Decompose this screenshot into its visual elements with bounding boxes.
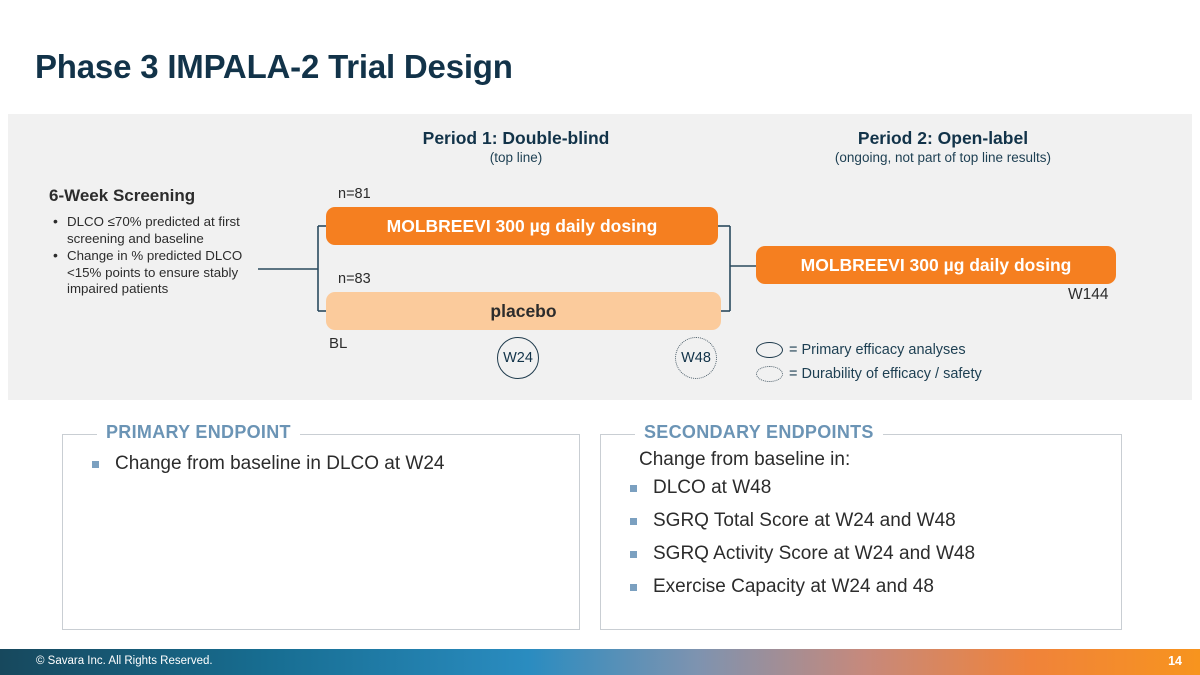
period-2-subtitle: (ongoing, not part of top line results) — [768, 150, 1118, 165]
baseline-label: BL — [329, 335, 347, 352]
list-item: DLCO ≤70% predicted at first screening a… — [50, 214, 245, 247]
primary-endpoint-heading: PRIMARY ENDPOINT — [97, 422, 300, 443]
secondary-endpoints-box: SECONDARY ENDPOINTS Change from baseline… — [600, 434, 1122, 630]
primary-endpoint-list: Change from baseline in DLCO at W24 — [85, 452, 571, 476]
legend-label: = Durability of efficacy / safety — [789, 366, 982, 382]
period-1-subtitle: (top line) — [338, 150, 694, 165]
arm-2-n-label: n=83 — [338, 271, 371, 287]
dotted-ellipse-icon — [756, 366, 783, 382]
top-gradient-bar — [0, 0, 1200, 14]
screening-criteria-list: DLCO ≤70% predicted at first screening a… — [50, 214, 245, 299]
milestone-w48: W48 — [675, 337, 717, 379]
secondary-endpoints-body: Change from baseline in: DLCO at W48 SGR… — [623, 449, 1113, 608]
period-2-title: Period 2: Open-label — [768, 128, 1118, 149]
page-title: Phase 3 IMPALA-2 Trial Design — [35, 48, 513, 86]
list-item: Change in % predicted DLCO <15% points t… — [50, 248, 245, 298]
list-item: SGRQ Activity Score at W24 and W48 — [623, 542, 1113, 566]
solid-ellipse-icon — [756, 342, 783, 358]
treatment-bar-molbreevi-period2: MOLBREEVI 300 µg daily dosing — [756, 246, 1116, 284]
primary-endpoint-box: PRIMARY ENDPOINT Change from baseline in… — [62, 434, 580, 630]
period-2-header: Period 2: Open-label (ongoing, not part … — [768, 128, 1118, 165]
treatment-bar-molbreevi-period1: MOLBREEVI 300 µg daily dosing — [326, 207, 718, 245]
screening-heading: 6-Week Screening — [49, 186, 195, 206]
list-item: Exercise Capacity at W24 and 48 — [623, 575, 1113, 599]
legend-label: = Primary efficacy analyses — [789, 342, 966, 358]
secondary-endpoints-intro: Change from baseline in: — [639, 449, 1113, 471]
legend-row: = Primary efficacy analyses — [756, 342, 982, 358]
copyright-text: © Savara Inc. All Rights Reserved. — [36, 655, 213, 667]
secondary-endpoints-heading: SECONDARY ENDPOINTS — [635, 422, 883, 443]
primary-endpoint-body: Change from baseline in DLCO at W24 — [85, 452, 571, 485]
period-1-header: Period 1: Double-blind (top line) — [338, 128, 694, 165]
diagram-legend: = Primary efficacy analyses = Durability… — [756, 342, 982, 390]
footer-gradient-bar: © Savara Inc. All Rights Reserved. 14 — [0, 649, 1200, 675]
slide: Phase 3 IMPALA-2 Trial Design Period 1: … — [0, 0, 1200, 675]
period-1-title: Period 1: Double-blind — [338, 128, 694, 149]
secondary-endpoints-list: DLCO at W48 SGRQ Total Score at W24 and … — [623, 476, 1113, 599]
trial-design-diagram-panel: Period 1: Double-blind (top line) Period… — [8, 114, 1192, 400]
list-item: DLCO at W48 — [623, 476, 1113, 500]
milestone-w24: W24 — [497, 337, 539, 379]
list-item: SGRQ Total Score at W24 and W48 — [623, 509, 1113, 533]
week-144-label: W144 — [1068, 286, 1109, 304]
treatment-bar-placebo: placebo — [326, 292, 721, 330]
arm-1-n-label: n=81 — [338, 186, 371, 202]
legend-row: = Durability of efficacy / safety — [756, 366, 982, 382]
page-number: 14 — [1168, 654, 1182, 668]
list-item: Change from baseline in DLCO at W24 — [85, 452, 571, 476]
